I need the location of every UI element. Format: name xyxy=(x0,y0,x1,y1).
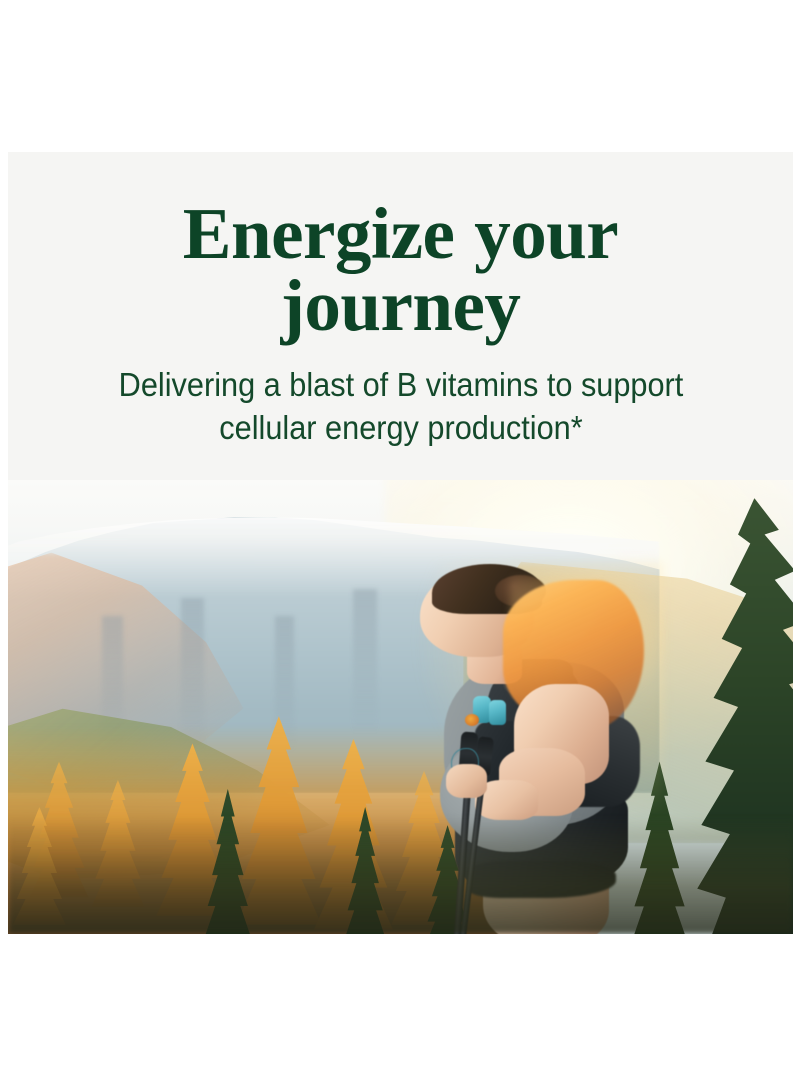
water-bottle xyxy=(489,700,505,725)
hiker-hand-holding-poles xyxy=(446,764,487,798)
headline-line-2: journey xyxy=(281,265,521,346)
promo-subtitle: Delivering a blast of B vitamins to supp… xyxy=(94,363,708,450)
headline-line-1: Energize your xyxy=(183,193,618,274)
promo-card: Energize your journey Delivering a blast… xyxy=(8,152,793,934)
foreground-foliage-blur xyxy=(8,816,793,934)
lifestyle-photo xyxy=(8,480,793,934)
page-title: Energize your journey xyxy=(101,198,701,343)
gear-clip xyxy=(465,714,479,726)
promo-text-block: Energize your journey Delivering a blast… xyxy=(8,152,793,450)
